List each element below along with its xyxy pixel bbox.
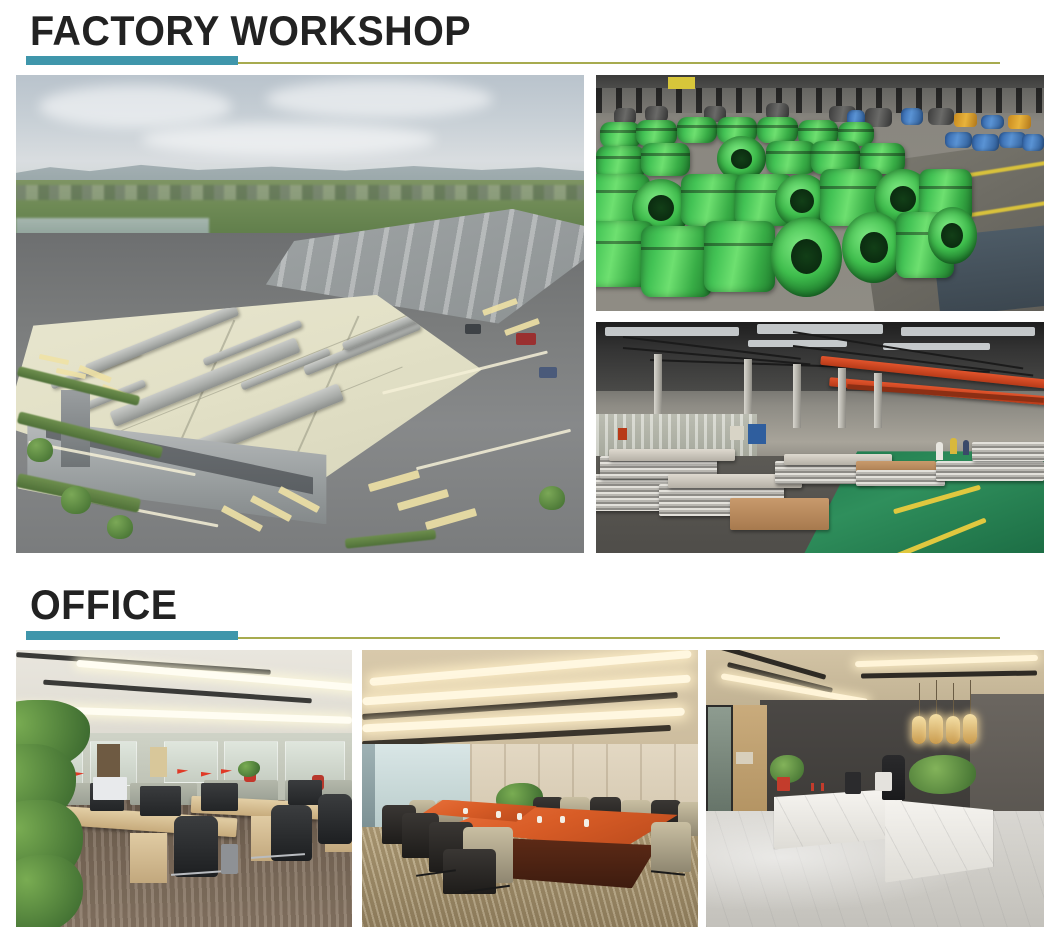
coil-green bbox=[600, 122, 640, 148]
coil-blue bbox=[945, 132, 972, 149]
photo-warehouse-steel-plates[interactable] bbox=[596, 322, 1044, 553]
divider-line-olive bbox=[238, 62, 1000, 64]
coil-orange bbox=[954, 113, 976, 127]
wall-plaque bbox=[736, 752, 753, 763]
wall-sign bbox=[730, 426, 743, 440]
truck bbox=[465, 324, 481, 334]
coil-green-face bbox=[928, 207, 977, 264]
coil-green bbox=[636, 120, 676, 146]
office-chair bbox=[845, 772, 862, 794]
divider-factory-workshop bbox=[26, 56, 1000, 66]
company-profile-page: FACTORY WORKSHOP bbox=[0, 0, 1060, 927]
table-cup bbox=[537, 816, 542, 823]
skylight bbox=[901, 327, 1035, 336]
photo-conference-room[interactable] bbox=[362, 650, 698, 927]
table-cup bbox=[496, 811, 501, 818]
window-frame bbox=[362, 744, 375, 827]
desk-plant bbox=[238, 761, 260, 777]
coil-blue bbox=[1022, 134, 1044, 151]
photo-open-plan-office[interactable] bbox=[16, 650, 352, 927]
cloud bbox=[39, 85, 232, 128]
reception-lobby-scene bbox=[706, 650, 1044, 927]
aerial-factory-scene bbox=[16, 75, 584, 553]
divider-line-olive bbox=[238, 637, 1000, 639]
counter-plant bbox=[909, 755, 977, 794]
wall-sign bbox=[618, 428, 627, 440]
monitor bbox=[288, 780, 322, 805]
divider-bar-teal bbox=[26, 631, 238, 640]
wood-packed-plate bbox=[730, 498, 829, 530]
coil-green bbox=[641, 226, 713, 297]
cabinet bbox=[150, 747, 167, 777]
coil-blue bbox=[972, 134, 999, 151]
table-cup bbox=[584, 819, 589, 827]
worker bbox=[936, 442, 943, 460]
conference-chair bbox=[651, 822, 691, 872]
monitor-screen bbox=[93, 777, 127, 799]
coil-green bbox=[766, 141, 815, 174]
photo-green-steel-coils[interactable] bbox=[596, 75, 1044, 311]
truck bbox=[516, 333, 536, 345]
monitor bbox=[140, 786, 180, 816]
desk-pedestal bbox=[130, 833, 167, 883]
coil-background bbox=[928, 108, 955, 125]
open-office-scene bbox=[16, 650, 352, 927]
pendant-light bbox=[946, 716, 960, 744]
skylight bbox=[757, 324, 882, 333]
receptionist-shirt bbox=[875, 772, 892, 791]
coil-blue bbox=[981, 115, 1003, 129]
steel-plate-stack bbox=[936, 461, 1044, 482]
plant-pot bbox=[777, 777, 791, 791]
office-chair bbox=[174, 816, 218, 877]
warehouse-scene bbox=[596, 322, 1044, 553]
photo-reception-lobby[interactable] bbox=[706, 650, 1044, 927]
office-chair bbox=[271, 805, 311, 860]
table-cup bbox=[560, 816, 565, 823]
desk-flag bbox=[821, 783, 824, 791]
tree bbox=[539, 486, 565, 510]
office-chair bbox=[318, 794, 352, 844]
photo-aerial-factory[interactable] bbox=[16, 75, 584, 553]
coil-green bbox=[757, 117, 797, 143]
pendant-light bbox=[963, 714, 977, 744]
divider-bar-teal bbox=[26, 56, 238, 65]
table-cup bbox=[517, 813, 522, 820]
wooden-door bbox=[97, 744, 121, 777]
truck bbox=[539, 367, 557, 378]
desk-flag bbox=[811, 783, 814, 791]
coil-green bbox=[704, 221, 776, 292]
coil-green-face bbox=[771, 217, 843, 297]
monitor bbox=[201, 783, 238, 811]
tree bbox=[61, 486, 91, 514]
foreground-plant bbox=[16, 855, 83, 927]
page-title-office: OFFICE bbox=[30, 582, 178, 628]
glass-partition bbox=[164, 741, 218, 783]
waste-bin bbox=[221, 844, 238, 874]
pendant-light bbox=[929, 714, 943, 744]
skylight bbox=[605, 327, 739, 336]
worker bbox=[950, 438, 957, 454]
page-title-factory-workshop: FACTORY WORKSHOP bbox=[30, 8, 471, 54]
wall-notice-board bbox=[748, 424, 766, 445]
coil-green bbox=[677, 117, 717, 143]
steel-plate-stack bbox=[856, 470, 946, 486]
cloud bbox=[266, 80, 493, 118]
coil-blue bbox=[901, 108, 923, 125]
steel-plate-top bbox=[609, 449, 734, 461]
coil-orange bbox=[1008, 115, 1030, 129]
worker bbox=[963, 440, 969, 455]
tree bbox=[107, 515, 133, 539]
conference-room-scene bbox=[362, 650, 698, 927]
divider-office bbox=[26, 631, 1000, 641]
support-column bbox=[793, 364, 801, 429]
table-cup bbox=[463, 808, 468, 814]
support-column bbox=[838, 368, 846, 428]
pendant-light bbox=[912, 716, 926, 744]
steel-coils-scene bbox=[596, 75, 1044, 311]
steel-plate-stack bbox=[972, 442, 1044, 460]
yellow-sign bbox=[668, 77, 695, 89]
coil-green bbox=[641, 143, 690, 176]
support-column bbox=[874, 373, 882, 428]
tree bbox=[27, 438, 53, 462]
cloud bbox=[141, 123, 436, 156]
